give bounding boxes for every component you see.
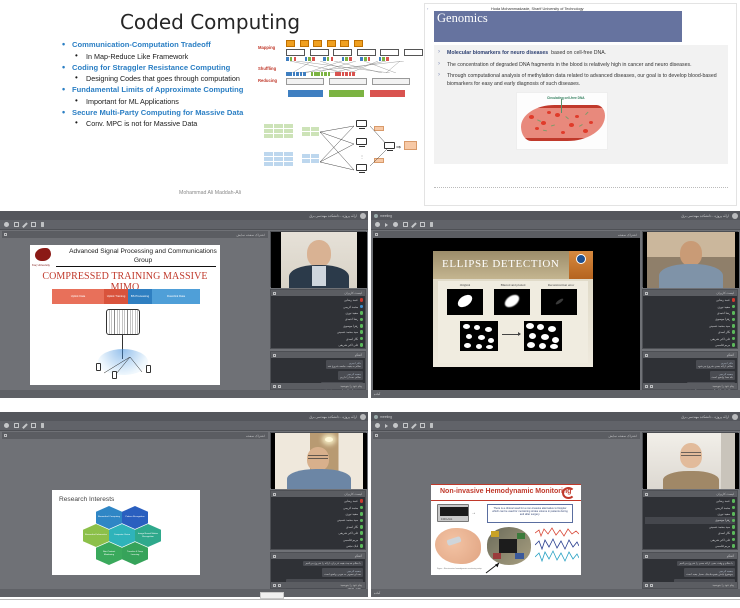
hex-cell: Transfer & Deep Learning	[122, 542, 148, 565]
minimize-icon[interactable]	[645, 555, 648, 558]
mapper-key-row	[286, 40, 363, 47]
chat-text: با سلام خدمت همه عزیزان، ارائه را شروع م…	[305, 562, 361, 566]
reduce-function-box	[329, 78, 367, 85]
webcam-pod[interactable]	[270, 231, 366, 287]
minimize-icon[interactable]	[645, 354, 648, 357]
square-icon[interactable]	[403, 423, 408, 428]
participants-list[interactable]: احمد رضایی محمد کریمی سعید نوری زهرا موس…	[643, 497, 737, 550]
blurred-image	[494, 289, 530, 315]
window-titlebar: meeting ارائه پروژه - دانشکده مهندسی برق	[371, 211, 740, 220]
diagram-label-reducing: Reducing	[258, 78, 277, 83]
slide-hemodynamic-monitoring: Non-invasive Hemodynamic Monitoring 0.00…	[431, 484, 581, 575]
chat-message: محمد کریمیبله صدا واضح است	[710, 371, 735, 381]
mpc-diagram: ⋮ ⇒	[258, 118, 418, 180]
reducer-group	[286, 72, 306, 76]
genomics-footer-rule	[434, 187, 728, 188]
minimize-icon[interactable]	[4, 434, 7, 437]
chat-text: بله صدا واضح است	[712, 376, 733, 380]
mic-status-icon[interactable]	[360, 298, 363, 302]
participants-header-label: لیست کاربران	[716, 492, 734, 496]
participants-header-label: لیست کاربران	[344, 492, 362, 496]
participant-name: سعید نوری	[345, 311, 358, 315]
avatar[interactable]	[360, 414, 366, 420]
window-title: ارائه پروژه - دانشکده مهندسی برق	[681, 415, 729, 419]
minimize-icon[interactable]	[273, 493, 276, 496]
pointer-arrow	[485, 562, 505, 574]
participant-name: نگار اسدی	[718, 330, 731, 334]
mic-status-icon[interactable]	[360, 506, 363, 510]
slide-coded-computing: Coded Computing Communication-Computatio…	[0, 0, 420, 205]
participants-header-label: لیست کاربران	[344, 291, 362, 295]
conference-window-top-right[interactable]: meeting ارائه پروژه - دانشکده مهندسی برق…	[371, 211, 740, 398]
right-rail: لیست کاربران احمد رضایی محمد کریمی سعید …	[270, 231, 366, 390]
window-title: ارائه پروژه - دانشکده مهندسی برق	[309, 214, 357, 218]
output-row	[288, 90, 405, 97]
mic-status-icon[interactable]	[732, 343, 735, 347]
trash-icon[interactable]	[430, 423, 434, 429]
chat-text: سلام به همه، جلسه شروع شد	[328, 365, 361, 369]
participant-name: سعید نوری	[345, 512, 358, 516]
minimize-icon[interactable]	[645, 493, 648, 496]
pencil-icon[interactable]	[22, 423, 27, 428]
mic-status-icon[interactable]	[732, 311, 735, 315]
chat-pod[interactable]: گفتگو دکتر امیریسلام به همه، جلسه شروع ش…	[270, 351, 366, 390]
mic-status-icon[interactable]	[360, 343, 363, 347]
list-item[interactable]: مریم قاسمی	[645, 342, 735, 348]
key-box	[286, 40, 295, 47]
participant-name: محمد کریمی	[715, 506, 730, 510]
emoji-icon[interactable]	[645, 385, 648, 388]
pencil-icon[interactable]	[411, 222, 416, 227]
slide-content-panel: Original Blurred and plotted Reconstruct…	[438, 281, 588, 363]
participant-name: سید محمد حسینی	[337, 518, 359, 522]
page-bottom-divider	[0, 599, 740, 600]
participants-pod[interactable]: لیست کاربران احمد رضایی محمد کریمی سعید …	[270, 289, 366, 349]
webcam-pod[interactable]	[270, 432, 366, 488]
mic-status-icon[interactable]	[360, 512, 363, 516]
hex-cell: Image Based Motion Recognition	[135, 524, 161, 547]
chat-text: صدا و تصویر به خوبی واضح است	[324, 573, 361, 577]
trash-icon[interactable]	[430, 222, 434, 228]
stage-label: اشتراک صفحه	[246, 434, 265, 438]
hex-cell: Non-Contact Monitoring	[96, 542, 122, 565]
square-icon[interactable]	[14, 423, 19, 428]
figure-caption: Figure : Non-invasive hemodynamic monito…	[437, 568, 482, 570]
chat-input[interactable]: پیام خود را بنویسید	[712, 384, 734, 388]
diagram-label-shuffling: Shuffling	[258, 66, 276, 71]
bullet-item: Through computational analysis of methyl…	[434, 73, 720, 88]
frame-segment: Uplink Training	[104, 289, 128, 304]
conference-window-bottom-right[interactable]: meeting ارائه پروژه - دانشکده مهندسی برق…	[371, 412, 740, 597]
minimize-icon[interactable]	[4, 233, 7, 236]
mic-status-icon[interactable]	[732, 538, 735, 542]
university-badge	[569, 251, 593, 279]
bullet-tail: based on cell-free DNA.	[550, 50, 607, 56]
output-box	[329, 90, 364, 97]
webcam-video[interactable]	[643, 232, 739, 288]
reduce-function-row	[286, 78, 410, 85]
chat-text: سلام، ارائه بعدی شروع می‌شود	[698, 365, 733, 369]
mic-status-icon[interactable]	[732, 544, 735, 548]
pointer-icon[interactable]	[4, 222, 9, 227]
participant-name: احمد رضایی	[344, 499, 359, 503]
app-badge: meeting	[374, 415, 392, 419]
mic-status-icon[interactable]	[360, 311, 363, 315]
image-caption: Original	[444, 283, 486, 287]
image-caption: Reconstruction error	[538, 283, 584, 287]
user-terminal-icon	[96, 363, 101, 371]
participants-list[interactable]: احمد رضایی محمد کریمی سعید نوری سید محمد…	[271, 497, 365, 550]
status-bar: آماده	[371, 390, 740, 398]
attach-icon[interactable]	[650, 584, 653, 587]
shared-screen-stage[interactable]: اشتراک صفحه نمایش Koç University Advance…	[2, 231, 268, 390]
quote-box: There is a clinical need for a non-invas…	[487, 504, 573, 523]
participant-name: سید محمد حسینی	[709, 324, 731, 328]
mic-status-icon[interactable]	[732, 318, 735, 322]
participant-name: سید محمد حسینی	[337, 330, 359, 334]
key-box	[327, 40, 336, 47]
mic-status-icon[interactable]	[732, 506, 735, 510]
emoji-icon[interactable]	[645, 584, 648, 587]
footer-marker-icon: ›	[427, 6, 428, 11]
chat-pod[interactable]: گفتگو با سلام خدمت همه عزیزان، ارائه را …	[270, 552, 366, 589]
attach-icon[interactable]	[278, 385, 281, 388]
circle-icon[interactable]	[393, 423, 398, 428]
chat-message: محمد کریمیموضوع پایش همودینامیک بسیار مف…	[684, 568, 735, 578]
attach-icon[interactable]	[278, 584, 281, 587]
annotation-toolbar[interactable]	[0, 220, 368, 230]
ellipsis: ⋮	[360, 154, 364, 159]
shared-screen-stage[interactable]: اشتراک صفحه Research Interests Biomedica…	[2, 432, 268, 589]
emoji-icon[interactable]	[273, 584, 276, 587]
chat-message: دکتر امیریسلام، ارائه بعدی شروع می‌شود	[696, 360, 735, 370]
mpc-edges	[320, 122, 358, 176]
university-name: Koç University	[32, 263, 50, 267]
user-terminal-icon	[146, 365, 151, 373]
logo-swirl-icon	[562, 487, 575, 499]
pencil-icon[interactable]	[411, 423, 416, 428]
original-image	[447, 289, 483, 315]
arrow-right-icon: ⇒	[396, 144, 401, 151]
participant-name: احمد رضایی	[344, 298, 359, 302]
frame-segment: Downlink Data	[152, 289, 200, 304]
hex-cell: Pattern Recognition	[122, 506, 148, 529]
mic-status-icon[interactable]	[732, 512, 735, 516]
worker-box	[333, 49, 352, 56]
frame-structure-bar: Uplink Data Uplink Training BS Processin…	[52, 289, 200, 304]
participant-name: رضا احمدی	[717, 311, 731, 315]
shared-screen-stage[interactable]: اشتراک صفحه نمایش Non-invasive Hemodynam…	[373, 432, 640, 589]
map-reduce-diagram: Mapping Shuffling Reducing	[258, 40, 410, 102]
participants-header-label: لیست کاربران	[716, 291, 734, 295]
node-computer-icon	[356, 164, 367, 173]
coded-computing-bullet-list: Communication-Computation Tradeoff In Ma…	[62, 40, 262, 130]
annotation-toolbar[interactable]	[371, 220, 740, 230]
worker-row	[286, 49, 423, 56]
bullet-item: Coding for Straggler Resistance Computin…	[62, 63, 262, 74]
bottom-tab[interactable]	[260, 592, 284, 599]
list-item[interactable]: مریم قاسمی	[645, 543, 735, 549]
chat-input-bar[interactable]: پیام خود را بنویسید	[271, 383, 365, 389]
koc-university-logo-icon	[35, 248, 55, 264]
worker-box	[310, 49, 329, 56]
participant-name: علی اکبر شریفی	[338, 531, 358, 535]
reducer-group	[335, 72, 355, 76]
participants-list[interactable]: احمد رضایی سعید نوری رضا احمدی زهرا موسو…	[643, 296, 737, 349]
genomics-body: Molecular biomarkers for neuro diseases …	[434, 45, 728, 164]
minimize-icon[interactable]	[273, 354, 276, 357]
status-bar	[0, 589, 368, 597]
minimize-icon[interactable]	[273, 555, 276, 558]
mic-status-icon[interactable]	[732, 519, 735, 523]
slide-research-interests: Research Interests Biomedical Computing …	[52, 490, 200, 575]
mic-status-icon[interactable]	[732, 337, 735, 341]
worker-box	[286, 49, 305, 56]
node-computer-icon	[356, 138, 367, 147]
participant-name: سید محمد حسینی	[709, 525, 731, 529]
avatar[interactable]	[360, 213, 366, 219]
minimize-icon[interactable]	[273, 292, 276, 295]
minimize-icon[interactable]	[375, 434, 378, 437]
chat-message: با سلام و وقت بخیر، ارائه بعدی را شروع م…	[677, 561, 735, 567]
chat-text: سلام، صدا را داریم	[340, 376, 361, 380]
bullet-item: Important for ML Applications	[62, 97, 262, 107]
chat-input-bar[interactable]: پیام خود را بنویسید	[643, 582, 737, 588]
reducer-group	[311, 72, 331, 76]
annotation-toolbar[interactable]	[0, 421, 368, 431]
mic-status-icon[interactable]	[360, 330, 363, 334]
bullet-item: Designing Codes that goes through comput…	[62, 74, 262, 84]
stage-titlebar: اشتراک صفحه نمایش	[373, 432, 640, 439]
square-icon[interactable]	[14, 222, 19, 227]
list-item[interactable]: علی اکبر شریفی	[273, 342, 363, 348]
participant-name: نگار اسدی	[346, 525, 359, 529]
result-box	[404, 141, 417, 150]
multi-ellipse-input	[460, 321, 498, 351]
participants-pod[interactable]: لیست کاربران احمد رضایی محمد کریمی سعید …	[270, 490, 366, 550]
mic-status-icon[interactable]	[360, 305, 363, 309]
reducer-input-row	[286, 72, 355, 76]
participant-name: نگار اسدی	[346, 337, 359, 341]
reduce-function-box	[372, 78, 410, 85]
mic-status-icon[interactable]	[732, 499, 735, 503]
annotation-toolbar[interactable]	[371, 421, 740, 431]
chat-input[interactable]: پیام خود را بنویسید	[712, 583, 734, 587]
frame-segment: Uplink Data	[52, 289, 104, 304]
worker-box	[357, 49, 376, 56]
chat-input[interactable]: پیام خود را بنویسید	[340, 384, 362, 388]
participant-name: زهرا موسوی	[343, 324, 358, 328]
participant-name: مریم قاسمی	[715, 544, 730, 548]
illustration-caption: Circulating cell-free DNA	[547, 96, 585, 100]
minimize-icon[interactable]	[645, 292, 648, 295]
frame-segment: BS Processing	[128, 289, 152, 304]
slide-title: Research Interests	[59, 496, 114, 503]
arrow-head-icon	[518, 332, 521, 336]
mic-status-icon[interactable]	[360, 519, 363, 523]
chat-message: محمد کریمیصدا و تصویر به خوبی واضح است	[322, 568, 363, 578]
bullet-item: Secure Multi-Party Computing for Massive…	[62, 108, 262, 119]
chat-message: با سلام خدمت همه عزیزان، ارائه را شروع م…	[303, 561, 363, 567]
chat-input-bar[interactable]: پیام خود را بنویسید	[271, 582, 365, 588]
chat-header-label: گفتگو	[727, 353, 734, 357]
slides-row: Coded Computing Communication-Computatio…	[0, 0, 740, 208]
node-computer-icon	[356, 120, 367, 129]
chat-input-bar[interactable]: پیام خود را بنویسید	[643, 383, 737, 389]
note-icon[interactable]	[31, 423, 36, 428]
patient-neck-illustration	[435, 528, 481, 564]
right-rail: لیست کاربران احمد رضایی محمد کریمی سعید …	[642, 432, 738, 589]
worker-box	[380, 49, 399, 56]
attach-icon[interactable]	[650, 385, 653, 388]
chat-input[interactable]: پیام خود را بنویسید	[340, 583, 362, 587]
participant-name: سعید نوری	[717, 512, 730, 516]
mic-status-icon[interactable]	[360, 531, 363, 535]
window-title: ارائه پروژه - دانشکده مهندسی برق	[309, 415, 357, 419]
app-label: meeting	[380, 415, 392, 419]
hand-icon[interactable]	[385, 424, 388, 428]
aggregator-computer-icon	[384, 142, 395, 151]
hex-cell: Biomedical Informatics	[83, 524, 109, 547]
slide-genomics: Genomics Molecular biomarkers for neuro …	[424, 3, 737, 206]
hex-cell: Computer Vision	[109, 524, 135, 547]
note-icon[interactable]	[420, 222, 425, 227]
stage-label: اشتراک صفحه	[618, 233, 637, 237]
right-rail: لیست کاربران احمد رضایی سعید نوری رضا اح…	[642, 231, 738, 390]
chat-pod[interactable]: گفتگو با سلام و وقت بخیر، ارائه بعدی را …	[642, 552, 738, 589]
webcam-pod[interactable]	[642, 432, 738, 488]
participants-list[interactable]: احمد رضایی محمد کریمی سعید نوری رضا احمد…	[271, 296, 365, 349]
pointer-icon[interactable]	[4, 423, 9, 428]
avatar[interactable]	[732, 213, 738, 219]
list-item[interactable]: بابک نجفی	[273, 543, 363, 549]
divider	[431, 484, 581, 485]
mic-status-icon[interactable]	[732, 324, 735, 328]
mic-status-icon[interactable]	[732, 305, 735, 309]
slide-author: Mohammad Ali Maddah-Ali	[0, 190, 420, 196]
bullet-item: Conv. MPC is not for Massive Data	[62, 119, 262, 129]
participant-name: بابک نجفی	[346, 544, 358, 548]
chat-text: موضوع پایش همودینامیک بسیار مفید است	[686, 573, 733, 577]
trash-icon[interactable]	[41, 222, 45, 228]
mic-status-icon[interactable]	[360, 337, 363, 341]
worker-box	[404, 49, 423, 56]
participant-name: زهرا موسوی	[715, 518, 730, 522]
participant-name: مریم قاسمی	[343, 538, 358, 542]
square-icon[interactable]	[403, 222, 408, 227]
monitor-device-illustration: 0.00 L/min	[437, 504, 469, 522]
mic-status-icon[interactable]	[360, 538, 363, 542]
chat-header-label: گفتگو	[355, 353, 362, 357]
stage-label: اشتراک صفحه نمایش	[236, 233, 265, 237]
avatar[interactable]	[732, 414, 738, 420]
mic-status-icon[interactable]	[360, 544, 363, 548]
shared-screen-stage[interactable]: اشتراک صفحه ELLIPSE DETECTION Original B…	[373, 231, 640, 390]
user-terminal-icon	[112, 371, 117, 379]
webcam-pod[interactable]	[642, 231, 738, 287]
circle-icon[interactable]	[393, 222, 398, 227]
mic-status-icon[interactable]	[360, 525, 363, 529]
crest-icon	[576, 254, 586, 264]
multi-ellipse-output	[524, 321, 562, 351]
hand-icon[interactable]	[385, 223, 388, 227]
webcam-video[interactable]	[271, 433, 367, 489]
note-icon[interactable]	[420, 423, 425, 428]
key-box	[300, 40, 309, 47]
right-rail: لیست کاربران احمد رضایی محمد کریمی سعید …	[270, 432, 366, 589]
arrow-right-icon: →	[471, 510, 476, 516]
pointer-icon[interactable]	[375, 423, 380, 428]
window-titlebar: meeting ارائه پروژه - دانشکده مهندسی برق	[371, 412, 740, 421]
status-bar	[0, 390, 368, 398]
waveform-chart	[535, 526, 579, 566]
emoji-icon[interactable]	[273, 385, 276, 388]
group-title: Advanced Signal Processing and Communica…	[68, 248, 218, 265]
minimize-icon[interactable]	[375, 233, 378, 236]
participant-name: علی اکبر شریفی	[710, 337, 730, 341]
slide-compressed-training-mimo: Koç University Advanced Signal Processin…	[30, 245, 220, 385]
status-text: آماده	[374, 591, 380, 595]
participant-name: علی اکبر شریفی	[710, 538, 730, 542]
conference-window-bottom-left[interactable]: ارائه پروژه - دانشکده مهندسی برق اشتراک …	[0, 412, 368, 597]
webcam-video[interactable]	[271, 232, 367, 288]
mic-status-icon[interactable]	[732, 531, 735, 535]
trash-icon[interactable]	[41, 423, 45, 429]
hex-cell: Biomedical Computing	[96, 506, 122, 529]
hexagon-cluster: Biomedical Computing Pattern Recognition…	[88, 506, 166, 568]
participant-name: احمد رضایی	[716, 298, 731, 302]
status-bar: آماده	[371, 589, 740, 597]
mic-status-icon[interactable]	[360, 324, 363, 328]
genomics-title: Genomics	[437, 11, 488, 26]
bullet-item: The concentration of degraded DNA fragme…	[434, 62, 720, 70]
chat-header-label: گفتگو	[727, 554, 734, 558]
participant-name: علی اکبر شریفی	[338, 343, 358, 347]
stage-titlebar: اشتراک صفحه	[373, 231, 640, 238]
chat-pod[interactable]: گفتگو دکتر امیریسلام، ارائه بعدی شروع می…	[642, 351, 738, 390]
mic-status-icon[interactable]	[360, 499, 363, 503]
participant-name: احمد رضایی	[716, 499, 731, 503]
pointer-icon[interactable]	[375, 222, 380, 227]
key-box	[340, 40, 349, 47]
mic-status-icon[interactable]	[360, 318, 363, 322]
mic-status-icon[interactable]	[732, 525, 735, 529]
participant-name: نگار اسدی	[718, 531, 731, 535]
participant-name: محمد کریمی	[343, 506, 358, 510]
slide-title: ELLIPSE DETECTION	[442, 258, 559, 270]
mic-status-icon[interactable]	[732, 298, 735, 302]
slide-ellipse-detection: ELLIPSE DETECTION Original Blurred and p…	[433, 251, 593, 367]
stage-titlebar: اشتراک صفحه نمایش	[2, 231, 268, 238]
note-icon[interactable]	[31, 222, 36, 227]
participant-name: زهرا موسوی	[715, 317, 730, 321]
bullet-item: Molecular biomarkers for neuro diseases …	[434, 50, 720, 58]
pencil-icon[interactable]	[22, 222, 27, 227]
webcam-video[interactable]	[643, 433, 739, 489]
blood-vessel-illustration: Circulating cell-free DNA	[516, 92, 608, 150]
status-text: آماده	[374, 392, 380, 396]
window-titlebar: ارائه پروژه - دانشکده مهندسی برق	[0, 412, 368, 421]
chat-message: دکتر امیریسلام به همه، جلسه شروع شد	[326, 360, 363, 370]
bullet-item: In Map-Reduce Like Framework	[62, 52, 262, 62]
error-image	[541, 289, 577, 315]
stage-label: اشتراک صفحه نمایش	[608, 434, 637, 438]
conference-window-top-left[interactable]: ارائه پروژه - دانشکده مهندسی برق اشتراک …	[0, 211, 368, 398]
participants-pod[interactable]: لیست کاربران احمد رضایی سعید نوری رضا اح…	[642, 289, 738, 349]
image-caption: Blurred and plotted	[490, 283, 536, 287]
participants-pod[interactable]: لیست کاربران احمد رضایی محمد کریمی سعید …	[642, 490, 738, 550]
mic-status-icon[interactable]	[732, 330, 735, 334]
